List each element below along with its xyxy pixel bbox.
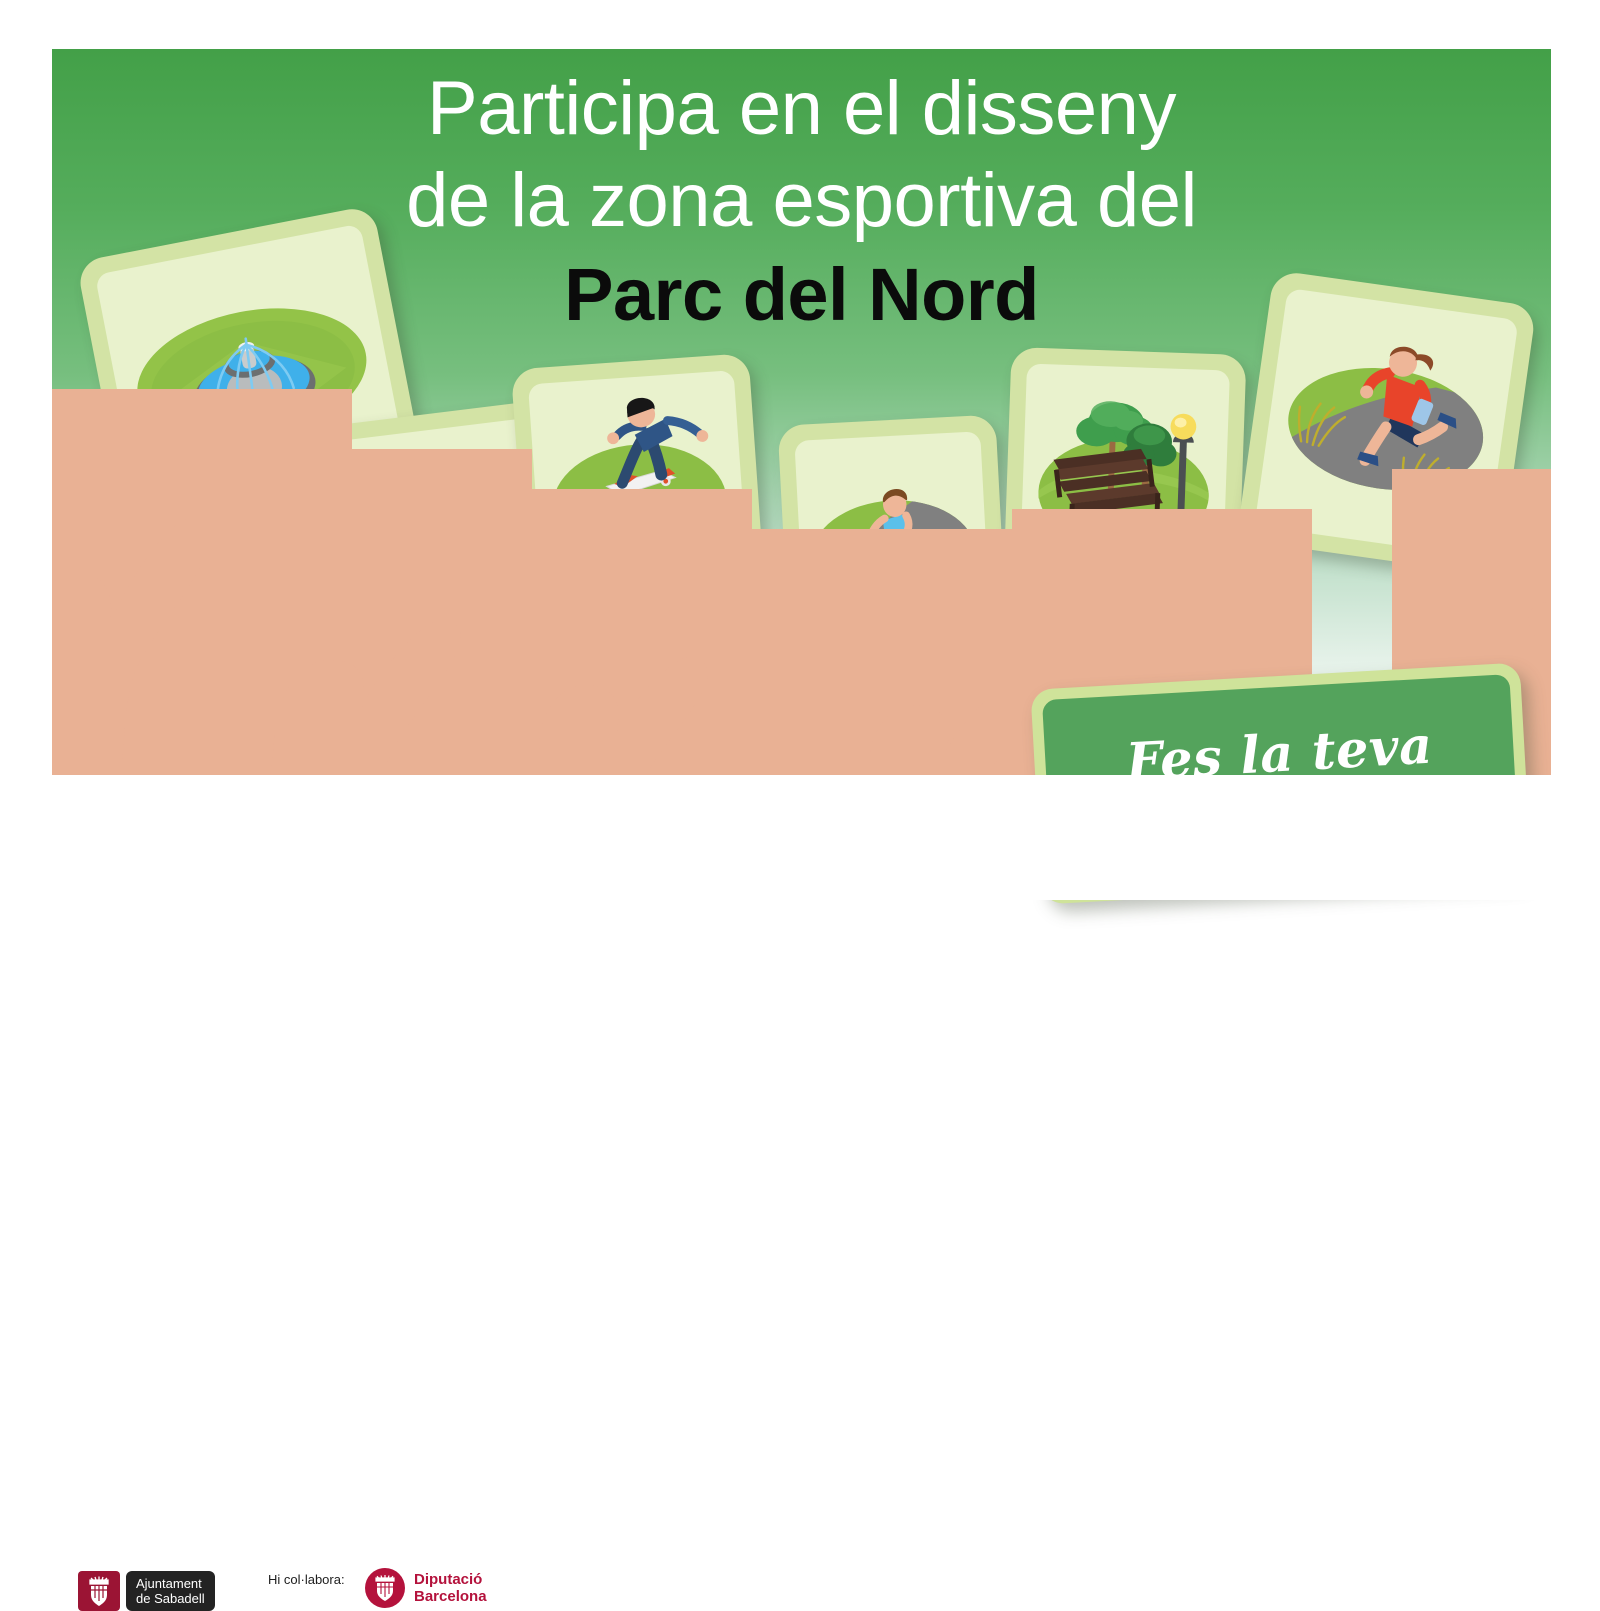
- hand-middle-left: [462, 489, 752, 775]
- poster-panel: Participa en el disseny de la zona espor…: [52, 49, 1551, 775]
- diputacio-crest-icon: [365, 1568, 405, 1608]
- diputacio-line-1: Diputació: [414, 1571, 487, 1588]
- ajuntament-wordmark: Ajuntament de Sabadell: [126, 1571, 215, 1611]
- diputacio-shield-icon: [372, 1574, 398, 1602]
- headline-line-2: de la zona esportiva del: [52, 155, 1551, 247]
- sabadell-crest-icon: [84, 1575, 114, 1607]
- ajuntament-line-2: de Sabadell: [136, 1591, 205, 1606]
- page-title: Participa en el disseny de la zona espor…: [52, 49, 1551, 343]
- logo-ajuntament-sabadell[interactable]: Ajuntament de Sabadell: [78, 1571, 215, 1611]
- footer-bar: Ajuntament de Sabadell Hi col·labora: Di…: [0, 775, 1600, 900]
- hand-middle-right: [752, 529, 1052, 775]
- diputacio-wordmark: Diputació Barcelona: [414, 1571, 487, 1605]
- ajuntament-line-1: Ajuntament: [136, 1576, 205, 1591]
- headline-line-1: Participa en el disseny: [52, 63, 1551, 155]
- diputacio-line-2: Barcelona: [414, 1588, 487, 1605]
- logo-diputacio-barcelona[interactable]: Diputació Barcelona: [365, 1568, 487, 1608]
- collaborate-label: Hi col·labora:: [268, 1572, 345, 1587]
- headline-line-3: Parc del Nord: [52, 247, 1551, 343]
- poster-canvas: Participa en el disseny de la zona espor…: [0, 0, 1600, 900]
- sabadell-shield-icon: [78, 1571, 120, 1611]
